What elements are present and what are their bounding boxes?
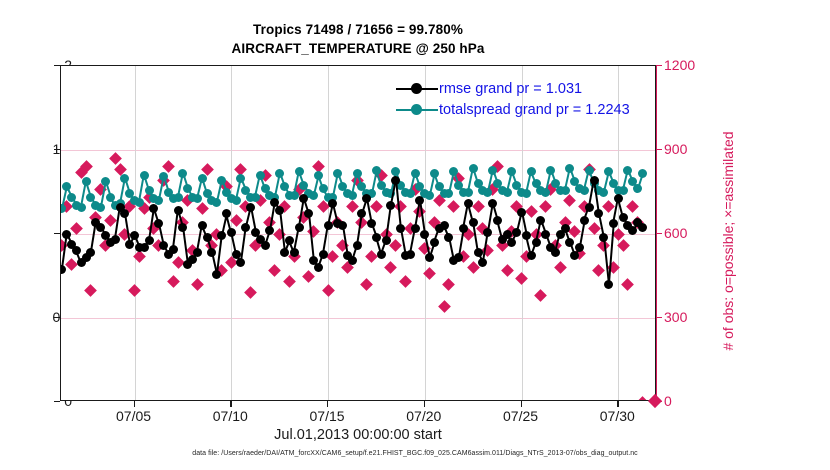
data-point xyxy=(328,199,337,208)
data-point xyxy=(178,223,187,232)
data-point xyxy=(512,228,521,237)
data-point xyxy=(561,186,570,195)
data-point xyxy=(440,221,449,230)
data-point xyxy=(425,191,434,200)
obs-count-marker xyxy=(360,278,373,291)
data-point xyxy=(372,166,381,175)
data-point xyxy=(585,166,594,175)
data-point xyxy=(396,224,405,233)
obs-count-marker xyxy=(472,200,485,213)
data-point xyxy=(522,189,531,198)
data-point xyxy=(517,208,526,217)
obs-count-marker xyxy=(128,284,141,297)
legend-swatch-rmse xyxy=(396,82,438,96)
x-tick-mark xyxy=(617,401,618,407)
data-point xyxy=(527,167,536,176)
data-point xyxy=(575,243,584,252)
data-point xyxy=(362,194,371,203)
data-point xyxy=(420,230,429,239)
data-point xyxy=(174,206,183,215)
data-point xyxy=(299,194,308,203)
x-tick-label: 07/05 xyxy=(116,408,151,424)
obs-count-marker xyxy=(636,396,649,400)
data-point xyxy=(193,248,202,257)
data-point xyxy=(411,169,420,178)
data-point xyxy=(275,206,284,215)
data-point xyxy=(290,248,299,257)
obs-count-marker xyxy=(525,205,538,218)
obs-count-marker xyxy=(162,160,175,173)
data-point xyxy=(261,241,270,250)
data-point xyxy=(290,191,299,200)
data-point xyxy=(357,209,366,218)
chart-title-line1: Tropics 71498 / 71656 = 99.780% xyxy=(60,20,656,39)
obs-count-marker xyxy=(268,264,281,277)
data-point xyxy=(198,221,207,230)
data-point xyxy=(222,209,231,218)
legend-label-totalspread: totalspread grand pr = 1.2243 xyxy=(438,102,630,118)
legend-swatch-totalspread xyxy=(396,103,438,117)
obs-count-marker xyxy=(617,239,630,252)
data-point xyxy=(415,196,424,205)
data-point xyxy=(444,189,453,198)
data-point xyxy=(507,238,516,247)
data-point xyxy=(256,171,265,180)
data-point xyxy=(295,223,304,232)
obs-count-marker xyxy=(244,286,257,299)
obs-count-marker xyxy=(196,202,209,215)
data-point xyxy=(212,198,221,207)
data-point xyxy=(609,219,618,228)
data-point xyxy=(406,189,415,198)
obs-count-marker xyxy=(85,284,98,297)
x-tick-mark xyxy=(230,401,231,407)
x-tick-label: 07/30 xyxy=(600,408,635,424)
obs-count-marker xyxy=(327,250,340,263)
data-point xyxy=(198,174,207,183)
data-point xyxy=(96,203,105,212)
data-point xyxy=(62,230,71,239)
x-tick-mark xyxy=(134,401,135,407)
data-point xyxy=(232,196,241,205)
data-point xyxy=(488,199,497,208)
data-point xyxy=(430,238,439,247)
data-point xyxy=(295,167,304,176)
data-point xyxy=(324,221,333,230)
y-tick-label-right: 1200 xyxy=(664,57,695,73)
obs-count-marker xyxy=(167,275,180,288)
data-point xyxy=(169,245,178,254)
y-tick-mark-right xyxy=(656,149,662,150)
data-point xyxy=(551,248,560,257)
data-point xyxy=(251,193,260,202)
data-point xyxy=(565,164,574,173)
x-tick-mark xyxy=(327,401,328,407)
data-point xyxy=(217,176,226,185)
obs-count-marker xyxy=(389,239,402,252)
data-point xyxy=(77,203,86,212)
data-point xyxy=(304,209,313,218)
data-point xyxy=(61,265,66,274)
data-point xyxy=(353,241,362,250)
data-point xyxy=(178,169,187,178)
data-point xyxy=(469,164,478,173)
legend: rmse grand pr = 1.031 totalspread grand … xyxy=(396,78,648,120)
obs-count-marker xyxy=(443,278,456,291)
obs-count-marker xyxy=(501,264,514,277)
data-point xyxy=(241,223,250,232)
data-point xyxy=(120,209,129,218)
x-tick-mark xyxy=(521,401,522,407)
obs-count-marker xyxy=(622,278,635,291)
data-point xyxy=(614,194,623,203)
obs-count-marker xyxy=(626,200,639,213)
data-point xyxy=(541,230,550,239)
data-point xyxy=(120,174,129,183)
data-point xyxy=(599,233,608,242)
data-point xyxy=(483,188,492,197)
data-point xyxy=(149,204,158,213)
data-point xyxy=(425,253,434,262)
x-tick-label: 07/20 xyxy=(406,408,441,424)
y-tick-mark-right xyxy=(656,65,662,66)
x-tick-label: 07/10 xyxy=(213,408,248,424)
obs-count-marker xyxy=(423,267,436,280)
y-tick-mark-right xyxy=(656,317,662,318)
data-point xyxy=(372,233,381,242)
obs-count-marker xyxy=(70,222,83,235)
legend-label-rmse: rmse grand pr = 1.031 xyxy=(438,81,582,97)
obs-count-marker xyxy=(593,264,606,277)
data-point xyxy=(140,171,149,180)
data-point xyxy=(314,263,323,272)
data-point xyxy=(319,184,328,193)
y-tick-label-right: 900 xyxy=(664,141,687,157)
x-tick-label: 07/25 xyxy=(503,408,538,424)
data-point xyxy=(590,176,599,185)
data-point xyxy=(348,191,357,200)
data-point xyxy=(522,231,531,240)
data-point xyxy=(111,235,120,244)
data-point xyxy=(623,166,632,175)
data-point xyxy=(604,280,613,289)
data-point xyxy=(82,177,91,186)
data-point xyxy=(348,256,357,265)
data-point xyxy=(377,250,386,259)
data-point xyxy=(532,238,541,247)
data-point xyxy=(628,226,637,235)
data-point xyxy=(469,218,478,227)
y-tick-mark-right xyxy=(656,233,662,234)
data-point xyxy=(314,171,323,180)
data-point xyxy=(207,248,216,257)
obs-count-marker xyxy=(438,300,451,313)
data-point xyxy=(367,219,376,228)
data-point xyxy=(125,240,134,249)
data-point xyxy=(633,184,642,193)
y-tick-label-right: 0 xyxy=(664,393,672,409)
data-point xyxy=(493,216,502,225)
data-point xyxy=(444,233,453,242)
data-point xyxy=(638,169,647,178)
data-point xyxy=(430,169,439,178)
data-point xyxy=(135,198,144,207)
data-point xyxy=(536,216,545,225)
obs-count-marker xyxy=(539,200,552,213)
data-point xyxy=(580,216,589,225)
obs-count-marker xyxy=(554,261,567,274)
data-point xyxy=(391,167,400,176)
data-point xyxy=(227,228,236,237)
data-point xyxy=(503,188,512,197)
obs-count-marker xyxy=(399,275,412,288)
obs-count-marker xyxy=(564,194,577,207)
y-axis-title-right: # of obs: o=possible; ×=assimilated xyxy=(720,91,736,391)
x-axis-title: Jul.01,2013 00:00:00 start xyxy=(60,427,656,443)
y-tick-label-right: 300 xyxy=(664,309,687,325)
obs-count-marker xyxy=(65,258,78,271)
data-point xyxy=(546,166,555,175)
obs-count-marker xyxy=(602,200,615,213)
x-tick-mark xyxy=(424,401,425,407)
obs-count-marker xyxy=(515,272,528,285)
data-point xyxy=(527,251,536,260)
data-point xyxy=(217,231,226,240)
data-point xyxy=(280,248,289,257)
data-point xyxy=(580,186,589,195)
x-tick-label: 07/15 xyxy=(310,408,345,424)
data-point xyxy=(406,250,415,259)
data-point xyxy=(193,194,202,203)
data-point xyxy=(483,228,492,237)
chart-title-line2: AIRCRAFT_TEMPERATURE @ 250 hPa xyxy=(60,39,656,58)
data-point xyxy=(464,188,473,197)
data-point xyxy=(411,224,420,233)
obs-count-marker xyxy=(322,284,335,297)
data-point xyxy=(86,248,95,257)
obs-count-marker xyxy=(370,200,383,213)
data-point xyxy=(338,221,347,230)
data-point xyxy=(391,176,400,185)
obs-count-marker xyxy=(283,275,296,288)
y-tick-label-right: 600 xyxy=(664,225,687,241)
data-point xyxy=(333,169,342,178)
data-point xyxy=(478,258,487,267)
data-point xyxy=(594,209,603,218)
data-file-footnote: data file: /Users/raeder/DAI/ATM_forcXX/… xyxy=(0,450,830,457)
data-point xyxy=(72,246,81,255)
data-point xyxy=(212,270,221,279)
data-point xyxy=(474,248,483,257)
obs-count-marker xyxy=(191,278,204,291)
data-point xyxy=(507,167,516,176)
data-point xyxy=(145,236,154,245)
y-tick-mark-left xyxy=(54,401,60,402)
data-point xyxy=(599,188,608,197)
obs-count-marker xyxy=(385,261,398,274)
data-point xyxy=(174,193,183,202)
data-point xyxy=(154,219,163,228)
series-segment xyxy=(608,224,615,285)
obs-count-marker xyxy=(365,250,378,263)
obs-count-marker xyxy=(568,225,581,238)
data-point xyxy=(638,223,647,232)
data-point xyxy=(382,236,391,245)
figure-canvas: Tropics 71498 / 71656 = 99.780% AIRCRAFT… xyxy=(0,0,830,470)
data-point xyxy=(236,174,245,183)
data-point xyxy=(353,169,362,178)
data-point xyxy=(309,191,318,200)
data-point xyxy=(488,166,497,175)
obs-count-marker xyxy=(447,200,460,213)
data-point xyxy=(565,238,574,247)
data-point xyxy=(386,201,395,210)
data-point xyxy=(319,250,328,259)
data-point xyxy=(585,203,594,212)
obs-count-marker xyxy=(302,270,315,283)
data-point xyxy=(285,236,294,245)
chart-title: Tropics 71498 / 71656 = 99.780% AIRCRAFT… xyxy=(60,20,656,58)
data-point xyxy=(246,203,255,212)
legend-item-rmse[interactable]: rmse grand pr = 1.031 xyxy=(396,78,648,99)
obs-count-marker xyxy=(588,222,601,235)
data-point xyxy=(236,258,245,267)
data-point xyxy=(464,199,473,208)
obs-count-marker xyxy=(535,289,548,302)
legend-item-totalspread[interactable]: totalspread grand pr = 1.2243 xyxy=(396,99,648,120)
data-point xyxy=(101,177,110,186)
data-point xyxy=(203,233,212,242)
obs-count-marker xyxy=(104,214,117,227)
data-point xyxy=(541,188,550,197)
